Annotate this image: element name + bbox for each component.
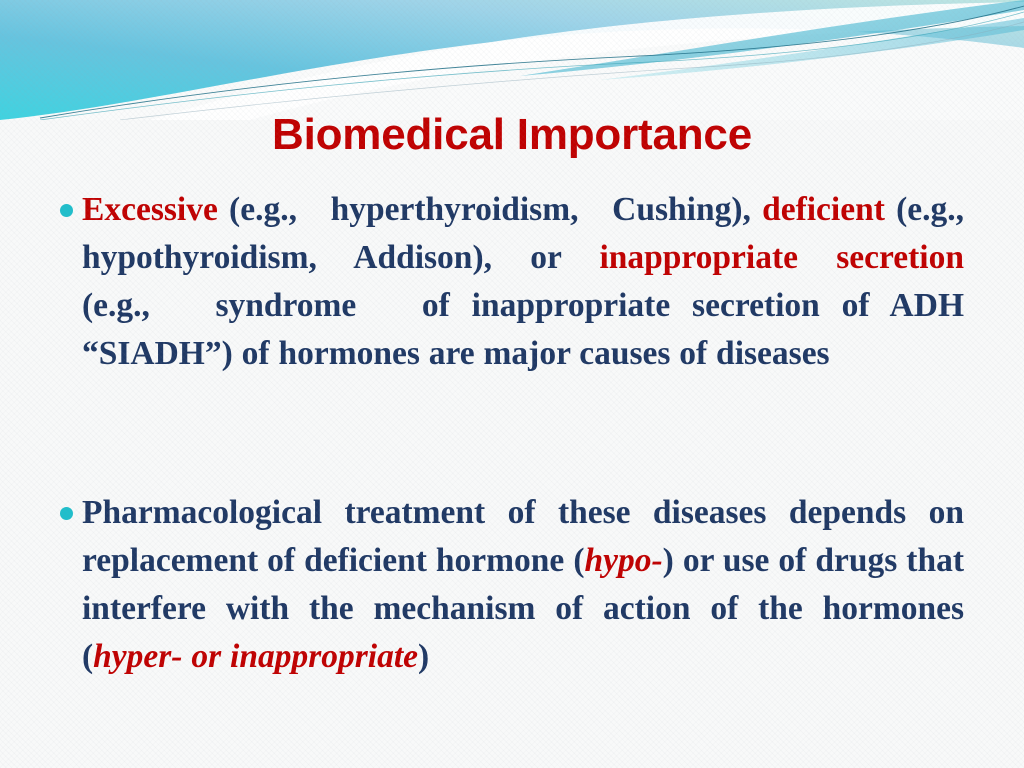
bullet-1-seg-eg1: (e.g., (218, 191, 297, 228)
bullet-1-seg-hyperthyroidism: hyperthyroidism, (331, 191, 579, 228)
bullet-row: Pharmacological treatment of these disea… (52, 489, 964, 681)
bullet-dot-icon (60, 204, 73, 217)
bullet-1-seg-cushing: Cushing), (612, 191, 751, 228)
bullet-1-seg-inappropriate-secretion: inappropriate secretion (599, 239, 964, 276)
bullet-1-paragraph: Excessive (e.g., hyperthyroidism, Cushin… (82, 186, 964, 378)
bullet-2-seg-hypo: hypo- (585, 542, 663, 579)
page-title: Biomedical Importance (0, 112, 1024, 158)
bullet-1-seg-of: of (422, 287, 450, 324)
bullet-1-seg-syndrome: syndrome (215, 287, 356, 324)
decorative-banner (0, 0, 1024, 120)
bullet-2-seg-open-paren: ( (573, 542, 584, 579)
bullet-row: Excessive (e.g., hyperthyroidism, Cushin… (52, 186, 964, 378)
bullet-1-seg-deficient: deficient (762, 191, 885, 228)
bullet-1-seg-tail: hormones are major causes of diseases (278, 335, 829, 372)
bullet-block-1: Excessive (e.g., hyperthyroidism, Cushin… (52, 186, 964, 378)
bullet-2-seg-or-inappropriate: or inappropriate (191, 638, 418, 675)
bullet-2-seg-pharmacological: Pharmacological treatment of these disea… (82, 494, 766, 531)
bullet-1-seg-excessive: Excessive (82, 191, 218, 228)
bullet-1-seg-eg3: (e.g., (82, 287, 150, 324)
bullet-dot-icon (60, 507, 73, 520)
slide: Biomedical Importance Excessive (e.g., h… (0, 0, 1024, 768)
bullet-2-paragraph: Pharmacological treatment of these disea… (82, 489, 964, 681)
bullet-2-seg-hyper: hyper- (93, 638, 182, 675)
bullet-2-seg-close-paren: ) (418, 638, 429, 675)
bullet-block-2: Pharmacological treatment of these disea… (52, 489, 964, 681)
